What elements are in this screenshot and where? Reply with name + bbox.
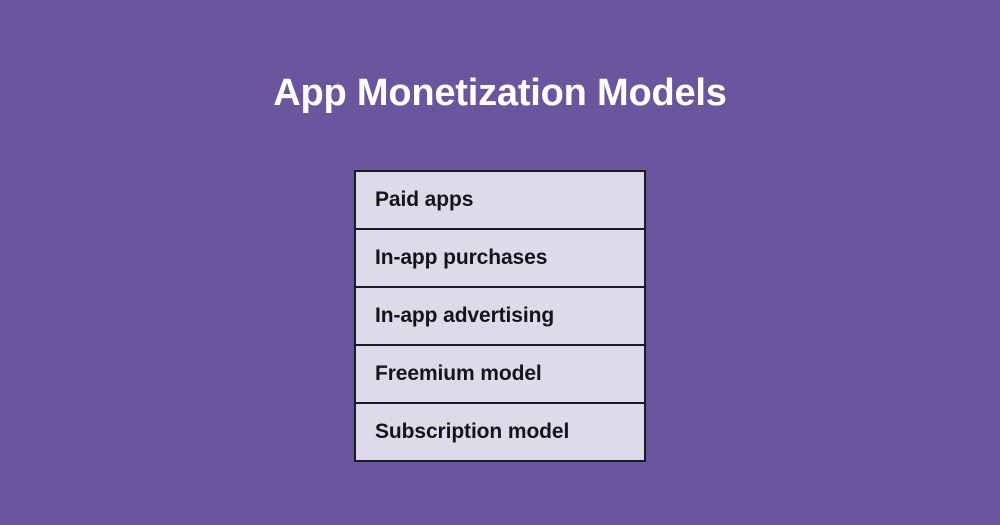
table-row: Paid apps xyxy=(355,171,645,229)
table-row: Subscription model xyxy=(355,403,645,461)
slide-canvas: App Monetization Models Paid apps In-app… xyxy=(0,0,1000,525)
table-row: In-app purchases xyxy=(355,229,645,287)
list-item-in-app-advertising: In-app advertising xyxy=(355,287,645,345)
monetization-models-table: Paid apps In-app purchases In-app advert… xyxy=(354,170,646,462)
list-item-in-app-purchases: In-app purchases xyxy=(355,229,645,287)
table-row: Freemium model xyxy=(355,345,645,403)
table-body: Paid apps In-app purchases In-app advert… xyxy=(355,171,645,461)
table-row: In-app advertising xyxy=(355,287,645,345)
list-item-subscription-model: Subscription model xyxy=(355,403,645,461)
list-item-paid-apps: Paid apps xyxy=(355,171,645,229)
page-title: App Monetization Models xyxy=(0,70,1000,116)
list-item-freemium-model: Freemium model xyxy=(355,345,645,403)
